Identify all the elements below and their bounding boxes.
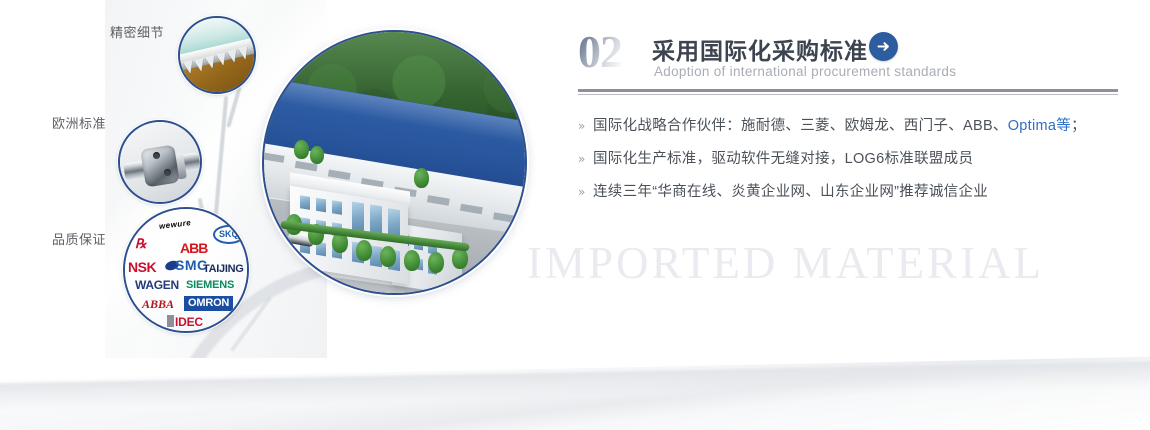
chevron-right-icon: » [578, 149, 593, 169]
brand-logo-mark: ℞ [135, 237, 147, 250]
brand-logo-siemens: SIEMENS [186, 280, 234, 291]
divider-line-thin [578, 94, 1118, 95]
screw-nut [140, 145, 180, 188]
chevron-right-icon: » [578, 182, 593, 202]
tree [294, 140, 309, 159]
promo-banner: 精密细节 欧洲标准 品质保证 wewure SKQ ℞ ABB NSK SMC … [0, 0, 1150, 430]
list-item: » 国际化生产标准，驱动软件无缝对接，LOG6标准联盟成员 [578, 149, 1118, 169]
brand-logos-icon: wewure SKQ ℞ ABB NSK SMC TAIJING WAGEN S… [123, 207, 249, 333]
floor-shadow [0, 360, 1150, 410]
section-number: 02 [578, 25, 622, 78]
tree [356, 240, 372, 261]
bullet-text-1-highlight: Optima等 [1008, 118, 1071, 134]
brand-logo-wagen: WAGEN [135, 279, 179, 291]
factory-window [427, 195, 450, 206]
watermark-text: IMPORTED MATERIAL [527, 237, 1044, 289]
list-item: » 国际化战略合作伙伴：施耐德、三菱、欧姆龙、西门子、ABB、Optima等； [578, 116, 1118, 136]
arrow-right-icon[interactable] [869, 32, 898, 61]
brand-logo-idec: IDEC [175, 316, 203, 328]
bullet-text-1: 国际化战略合作伙伴：施耐德、三菱、欧姆龙、西门子、ABB、Optima等； [593, 116, 1086, 136]
factory-building-photo [262, 30, 527, 295]
brand-logo-abb: ABB [180, 241, 207, 255]
floor-reflection [0, 355, 1150, 430]
factory-window [460, 204, 483, 215]
factory-window [493, 212, 516, 223]
brand-logo-taijing: TAIJING [203, 264, 243, 275]
tree [380, 246, 396, 267]
divider-line-thick [578, 89, 1118, 92]
content-column: 02 采用国际化采购标准 Adoption of international p… [578, 24, 1118, 215]
section-header: 02 采用国际化采购标准 Adoption of international p… [578, 24, 1118, 86]
brand-logo-nsk: NSK [128, 260, 156, 274]
list-item: » 连续三年“华商在线、炎黄企业网、山东企业网”推荐诚信企业 [578, 182, 1118, 202]
saw-blade-detail-icon [178, 16, 256, 94]
office-window [316, 198, 326, 213]
bullet-text-3: 连续三年“华商在线、炎黄企业网、山东企业网”推荐诚信企业 [593, 182, 988, 202]
label-european-standard: 欧洲标准 [52, 113, 106, 132]
brand-logo-abba: ABBA [142, 298, 174, 310]
brand-logo-skq: SKQ [213, 225, 245, 244]
factory-window [526, 221, 527, 232]
factory-window [262, 152, 285, 163]
ball-screw-icon [118, 120, 202, 204]
bullet-text-1-before: 国际化战略合作伙伴：施耐德、三菱、欧姆龙、西门子、ABB、 [593, 118, 1008, 134]
section-subtitle: Adoption of international procurement st… [654, 64, 956, 79]
chevron-right-icon: » [578, 116, 593, 136]
tree [404, 250, 420, 271]
screw-hole [153, 152, 160, 159]
tree [414, 168, 429, 188]
office-window [332, 200, 342, 215]
bullet-list: » 国际化战略合作伙伴：施耐德、三菱、欧姆龙、西门子、ABB、Optima等； … [578, 116, 1118, 202]
tree [428, 252, 444, 273]
header-divider [578, 89, 1118, 95]
brand-logo-idec-block [167, 315, 174, 327]
brand-logo-omron: OMRON [184, 296, 233, 311]
label-quality-assurance: 品质保证 [52, 229, 106, 248]
bullet-text-1-after: ； [1071, 118, 1086, 134]
office-window [300, 195, 310, 210]
screw-hole [164, 169, 171, 176]
section-title: 采用国际化采购标准 [652, 32, 868, 66]
label-precision-detail: 精密细节 [110, 22, 164, 41]
tree [310, 146, 324, 164]
bullet-text-2: 国际化生产标准，驱动软件无缝对接，LOG6标准联盟成员 [593, 149, 973, 169]
